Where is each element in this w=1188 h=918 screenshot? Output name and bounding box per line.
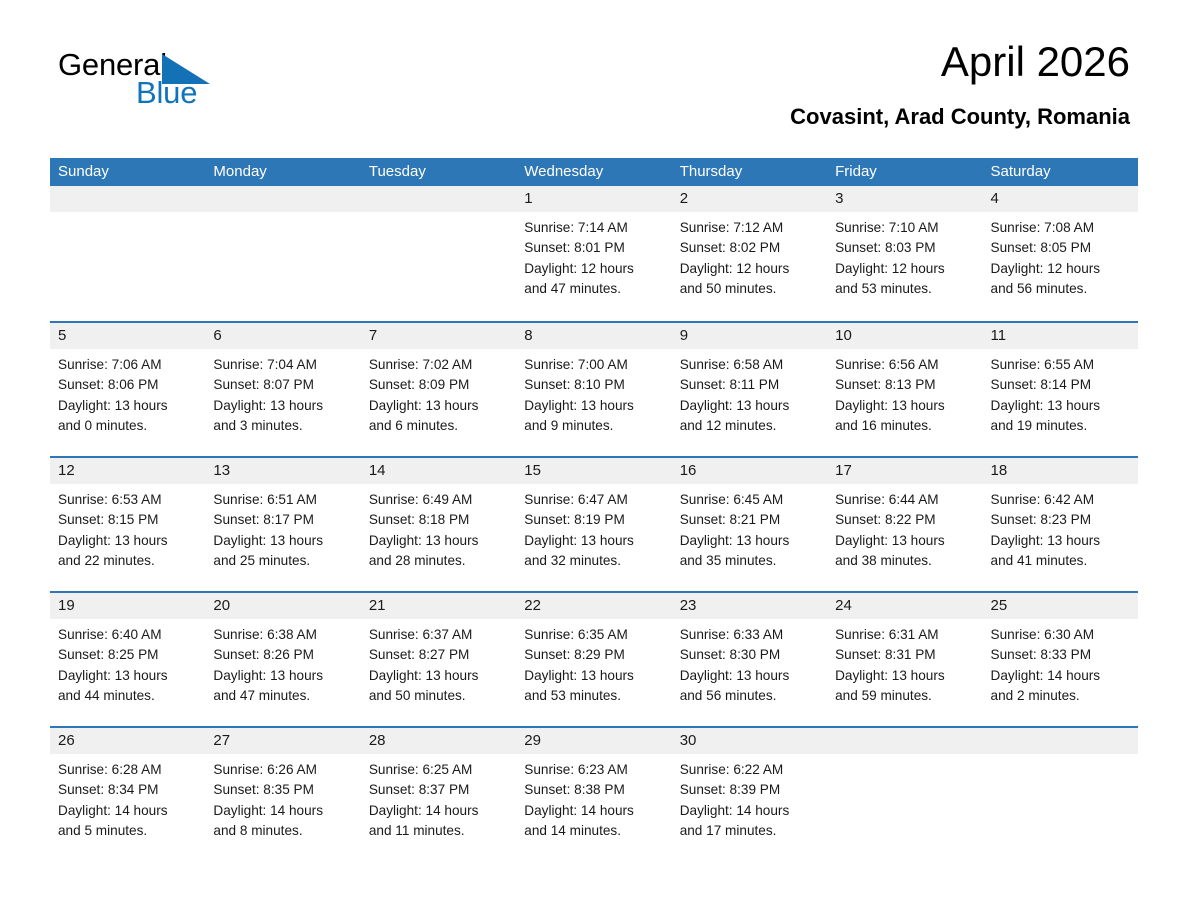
calendar-day-cell-empty [983, 728, 1138, 861]
day-detail-daylight2: and 35 minutes. [680, 551, 819, 571]
day-number: 22 [516, 593, 671, 619]
day-detail-sunrise: Sunrise: 7:12 AM [680, 218, 819, 238]
day-detail-daylight1: Daylight: 13 hours [991, 531, 1130, 551]
day-number: 30 [672, 728, 827, 754]
day-detail-sunrise: Sunrise: 7:08 AM [991, 218, 1130, 238]
day-detail-daylight2: and 22 minutes. [58, 551, 197, 571]
day-details: Sunrise: 6:58 AMSunset: 8:11 PMDaylight:… [672, 349, 827, 436]
day-detail-sunset: Sunset: 8:33 PM [991, 645, 1130, 665]
day-detail-sunset: Sunset: 8:10 PM [524, 375, 663, 395]
calendar-day-cell[interactable]: 13Sunrise: 6:51 AMSunset: 8:17 PMDayligh… [205, 458, 360, 591]
day-number: 7 [361, 323, 516, 349]
day-detail-daylight1: Daylight: 13 hours [991, 396, 1130, 416]
day-number [827, 728, 982, 754]
day-number: 25 [983, 593, 1138, 619]
day-detail-sunrise: Sunrise: 6:49 AM [369, 490, 508, 510]
day-detail-daylight1: Daylight: 14 hours [680, 801, 819, 821]
day-detail-daylight2: and 5 minutes. [58, 821, 197, 841]
day-detail-sunrise: Sunrise: 6:31 AM [835, 625, 974, 645]
day-detail-daylight1: Daylight: 13 hours [58, 666, 197, 686]
day-detail-sunset: Sunset: 8:17 PM [213, 510, 352, 530]
day-detail-daylight2: and 19 minutes. [991, 416, 1130, 436]
page-subtitle: Covasint, Arad County, Romania [790, 104, 1130, 130]
day-detail-daylight1: Daylight: 13 hours [680, 531, 819, 551]
day-detail-sunset: Sunset: 8:15 PM [58, 510, 197, 530]
day-detail-sunset: Sunset: 8:27 PM [369, 645, 508, 665]
calendar-day-cell[interactable]: 9Sunrise: 6:58 AMSunset: 8:11 PMDaylight… [672, 323, 827, 456]
weekday-header-sunday: Sunday [50, 158, 205, 186]
brand-name-blue: Blue [136, 76, 197, 110]
day-number: 16 [672, 458, 827, 484]
day-detail-sunset: Sunset: 8:03 PM [835, 238, 974, 258]
day-detail-daylight1: Daylight: 14 hours [58, 801, 197, 821]
day-details: Sunrise: 6:47 AMSunset: 8:19 PMDaylight:… [516, 484, 671, 571]
day-detail-daylight2: and 56 minutes. [991, 279, 1130, 299]
day-detail-daylight2: and 32 minutes. [524, 551, 663, 571]
day-detail-sunrise: Sunrise: 7:14 AM [524, 218, 663, 238]
day-detail-daylight1: Daylight: 13 hours [524, 396, 663, 416]
day-number: 11 [983, 323, 1138, 349]
day-detail-sunrise: Sunrise: 6:56 AM [835, 355, 974, 375]
calendar-day-cell[interactable]: 27Sunrise: 6:26 AMSunset: 8:35 PMDayligh… [205, 728, 360, 861]
day-details: Sunrise: 6:35 AMSunset: 8:29 PMDaylight:… [516, 619, 671, 706]
day-details: Sunrise: 6:45 AMSunset: 8:21 PMDaylight:… [672, 484, 827, 571]
day-number: 5 [50, 323, 205, 349]
day-detail-daylight2: and 53 minutes. [524, 686, 663, 706]
day-detail-sunset: Sunset: 8:25 PM [58, 645, 197, 665]
weekday-header-saturday: Saturday [983, 158, 1138, 186]
day-detail-sunrise: Sunrise: 6:53 AM [58, 490, 197, 510]
day-detail-sunset: Sunset: 8:06 PM [58, 375, 197, 395]
calendar-day-cell-empty [50, 186, 205, 321]
day-detail-sunrise: Sunrise: 6:30 AM [991, 625, 1130, 645]
day-number: 1 [516, 186, 671, 212]
day-detail-daylight2: and 8 minutes. [213, 821, 352, 841]
day-detail-sunset: Sunset: 8:13 PM [835, 375, 974, 395]
day-number: 2 [672, 186, 827, 212]
day-detail-daylight1: Daylight: 13 hours [369, 396, 508, 416]
day-detail-sunrise: Sunrise: 7:02 AM [369, 355, 508, 375]
day-details: Sunrise: 7:12 AMSunset: 8:02 PMDaylight:… [672, 212, 827, 299]
day-detail-daylight2: and 44 minutes. [58, 686, 197, 706]
day-detail-sunset: Sunset: 8:35 PM [213, 780, 352, 800]
day-detail-sunrise: Sunrise: 6:55 AM [991, 355, 1130, 375]
day-detail-sunset: Sunset: 8:21 PM [680, 510, 819, 530]
day-detail-sunset: Sunset: 8:37 PM [369, 780, 508, 800]
calendar-day-cell[interactable]: 12Sunrise: 6:53 AMSunset: 8:15 PMDayligh… [50, 458, 205, 591]
page-title: April 2026 [790, 38, 1130, 86]
day-detail-sunrise: Sunrise: 6:42 AM [991, 490, 1130, 510]
day-detail-sunset: Sunset: 8:22 PM [835, 510, 974, 530]
day-detail-daylight1: Daylight: 13 hours [835, 396, 974, 416]
day-details: Sunrise: 7:00 AMSunset: 8:10 PMDaylight:… [516, 349, 671, 436]
calendar-day-cell[interactable]: 22Sunrise: 6:35 AMSunset: 8:29 PMDayligh… [516, 593, 671, 726]
day-number [983, 728, 1138, 754]
day-detail-sunset: Sunset: 8:01 PM [524, 238, 663, 258]
day-detail-daylight2: and 14 minutes. [524, 821, 663, 841]
day-detail-sunset: Sunset: 8:38 PM [524, 780, 663, 800]
calendar-weeks: 1Sunrise: 7:14 AMSunset: 8:01 PMDaylight… [50, 186, 1138, 861]
day-details: Sunrise: 6:42 AMSunset: 8:23 PMDaylight:… [983, 484, 1138, 571]
day-detail-daylight2: and 56 minutes. [680, 686, 819, 706]
day-detail-daylight1: Daylight: 13 hours [213, 396, 352, 416]
day-detail-daylight1: Daylight: 13 hours [369, 666, 508, 686]
day-detail-sunrise: Sunrise: 7:00 AM [524, 355, 663, 375]
day-detail-daylight2: and 2 minutes. [991, 686, 1130, 706]
calendar-day-cell[interactable]: 7Sunrise: 7:02 AMSunset: 8:09 PMDaylight… [361, 323, 516, 456]
calendar-day-cell[interactable]: 5Sunrise: 7:06 AMSunset: 8:06 PMDaylight… [50, 323, 205, 456]
weekday-header-friday: Friday [827, 158, 982, 186]
day-details: Sunrise: 7:04 AMSunset: 8:07 PMDaylight:… [205, 349, 360, 436]
day-detail-daylight2: and 12 minutes. [680, 416, 819, 436]
day-detail-sunrise: Sunrise: 6:44 AM [835, 490, 974, 510]
day-detail-sunrise: Sunrise: 6:51 AM [213, 490, 352, 510]
page-header: General Blue April 2026 Covasint, Arad C… [50, 0, 1138, 120]
day-number: 18 [983, 458, 1138, 484]
day-detail-sunset: Sunset: 8:11 PM [680, 375, 819, 395]
day-details: Sunrise: 6:51 AMSunset: 8:17 PMDaylight:… [205, 484, 360, 571]
calendar-page: General Blue April 2026 Covasint, Arad C… [0, 0, 1188, 918]
day-detail-sunrise: Sunrise: 6:47 AM [524, 490, 663, 510]
day-details: Sunrise: 6:31 AMSunset: 8:31 PMDaylight:… [827, 619, 982, 706]
day-detail-sunrise: Sunrise: 6:58 AM [680, 355, 819, 375]
day-number: 13 [205, 458, 360, 484]
calendar-day-cell[interactable]: 29Sunrise: 6:23 AMSunset: 8:38 PMDayligh… [516, 728, 671, 861]
day-details: Sunrise: 7:06 AMSunset: 8:06 PMDaylight:… [50, 349, 205, 436]
day-details: Sunrise: 7:08 AMSunset: 8:05 PMDaylight:… [983, 212, 1138, 299]
weekday-header-tuesday: Tuesday [361, 158, 516, 186]
day-detail-sunrise: Sunrise: 7:04 AM [213, 355, 352, 375]
day-number: 9 [672, 323, 827, 349]
day-number: 27 [205, 728, 360, 754]
calendar-day-cell[interactable]: 28Sunrise: 6:25 AMSunset: 8:37 PMDayligh… [361, 728, 516, 861]
day-detail-sunset: Sunset: 8:09 PM [369, 375, 508, 395]
calendar-day-cell[interactable]: 16Sunrise: 6:45 AMSunset: 8:21 PMDayligh… [672, 458, 827, 591]
day-number [50, 186, 205, 212]
calendar-day-cell[interactable]: 24Sunrise: 6:31 AMSunset: 8:31 PMDayligh… [827, 593, 982, 726]
calendar-week-row: 5Sunrise: 7:06 AMSunset: 8:06 PMDaylight… [50, 321, 1138, 456]
day-number: 3 [827, 186, 982, 212]
day-detail-daylight1: Daylight: 13 hours [524, 531, 663, 551]
calendar-day-cell[interactable]: 4Sunrise: 7:08 AMSunset: 8:05 PMDaylight… [983, 186, 1138, 321]
day-number: 26 [50, 728, 205, 754]
day-detail-sunrise: Sunrise: 6:35 AM [524, 625, 663, 645]
day-detail-daylight1: Daylight: 13 hours [213, 531, 352, 551]
day-detail-sunset: Sunset: 8:30 PM [680, 645, 819, 665]
day-detail-sunset: Sunset: 8:39 PM [680, 780, 819, 800]
day-detail-sunset: Sunset: 8:34 PM [58, 780, 197, 800]
day-number [361, 186, 516, 212]
day-detail-daylight2: and 3 minutes. [213, 416, 352, 436]
day-detail-sunset: Sunset: 8:26 PM [213, 645, 352, 665]
day-detail-sunrise: Sunrise: 6:33 AM [680, 625, 819, 645]
day-detail-daylight1: Daylight: 14 hours [213, 801, 352, 821]
day-detail-sunrise: Sunrise: 6:40 AM [58, 625, 197, 645]
calendar-day-cell[interactable]: 3Sunrise: 7:10 AMSunset: 8:03 PMDaylight… [827, 186, 982, 321]
day-detail-daylight1: Daylight: 13 hours [58, 396, 197, 416]
weekday-header-row: Sunday Monday Tuesday Wednesday Thursday… [50, 158, 1138, 186]
day-details: Sunrise: 6:33 AMSunset: 8:30 PMDaylight:… [672, 619, 827, 706]
calendar-grid: Sunday Monday Tuesday Wednesday Thursday… [50, 158, 1138, 861]
calendar-day-cell[interactable]: 15Sunrise: 6:47 AMSunset: 8:19 PMDayligh… [516, 458, 671, 591]
day-details: Sunrise: 6:30 AMSunset: 8:33 PMDaylight:… [983, 619, 1138, 706]
day-number: 29 [516, 728, 671, 754]
day-detail-sunset: Sunset: 8:07 PM [213, 375, 352, 395]
day-detail-daylight2: and 50 minutes. [680, 279, 819, 299]
weekday-header-thursday: Thursday [672, 158, 827, 186]
calendar-week-row: 1Sunrise: 7:14 AMSunset: 8:01 PMDaylight… [50, 186, 1138, 321]
day-detail-daylight1: Daylight: 12 hours [835, 259, 974, 279]
day-number: 6 [205, 323, 360, 349]
calendar-day-cell[interactable]: 6Sunrise: 7:04 AMSunset: 8:07 PMDaylight… [205, 323, 360, 456]
calendar-day-cell-empty [827, 728, 982, 861]
day-detail-daylight1: Daylight: 12 hours [680, 259, 819, 279]
day-detail-daylight2: and 28 minutes. [369, 551, 508, 571]
brand-logo[interactable]: General Blue [58, 48, 258, 114]
day-details: Sunrise: 6:53 AMSunset: 8:15 PMDaylight:… [50, 484, 205, 571]
day-details: Sunrise: 6:38 AMSunset: 8:26 PMDaylight:… [205, 619, 360, 706]
calendar-day-cell[interactable]: 14Sunrise: 6:49 AMSunset: 8:18 PMDayligh… [361, 458, 516, 591]
day-detail-sunset: Sunset: 8:05 PM [991, 238, 1130, 258]
day-details: Sunrise: 7:10 AMSunset: 8:03 PMDaylight:… [827, 212, 982, 299]
calendar-day-cell[interactable]: 8Sunrise: 7:00 AMSunset: 8:10 PMDaylight… [516, 323, 671, 456]
day-number: 24 [827, 593, 982, 619]
day-detail-daylight1: Daylight: 13 hours [680, 666, 819, 686]
day-number: 4 [983, 186, 1138, 212]
day-number: 21 [361, 593, 516, 619]
day-detail-daylight1: Daylight: 12 hours [524, 259, 663, 279]
day-number: 20 [205, 593, 360, 619]
day-number [205, 186, 360, 212]
day-detail-daylight1: Daylight: 13 hours [369, 531, 508, 551]
day-number: 17 [827, 458, 982, 484]
calendar-day-cell[interactable]: 20Sunrise: 6:38 AMSunset: 8:26 PMDayligh… [205, 593, 360, 726]
day-detail-daylight1: Daylight: 12 hours [991, 259, 1130, 279]
calendar-day-cell[interactable]: 30Sunrise: 6:22 AMSunset: 8:39 PMDayligh… [672, 728, 827, 861]
calendar-day-cell-empty [361, 186, 516, 321]
day-detail-daylight1: Daylight: 13 hours [835, 531, 974, 551]
day-number: 8 [516, 323, 671, 349]
day-number: 14 [361, 458, 516, 484]
day-detail-sunrise: Sunrise: 6:28 AM [58, 760, 197, 780]
day-details: Sunrise: 6:56 AMSunset: 8:13 PMDaylight:… [827, 349, 982, 436]
calendar-week-row: 12Sunrise: 6:53 AMSunset: 8:15 PMDayligh… [50, 456, 1138, 591]
day-detail-daylight1: Daylight: 13 hours [58, 531, 197, 551]
day-detail-daylight2: and 25 minutes. [213, 551, 352, 571]
calendar-day-cell[interactable]: 17Sunrise: 6:44 AMSunset: 8:22 PMDayligh… [827, 458, 982, 591]
day-detail-sunrise: Sunrise: 6:25 AM [369, 760, 508, 780]
calendar-week-row: 19Sunrise: 6:40 AMSunset: 8:25 PMDayligh… [50, 591, 1138, 726]
day-detail-daylight2: and 11 minutes. [369, 821, 508, 841]
day-detail-daylight1: Daylight: 14 hours [524, 801, 663, 821]
day-detail-sunset: Sunset: 8:31 PM [835, 645, 974, 665]
day-detail-daylight2: and 53 minutes. [835, 279, 974, 299]
calendar-day-cell[interactable]: 23Sunrise: 6:33 AMSunset: 8:30 PMDayligh… [672, 593, 827, 726]
day-detail-daylight1: Daylight: 14 hours [369, 801, 508, 821]
calendar-day-cell-empty [205, 186, 360, 321]
day-details: Sunrise: 7:02 AMSunset: 8:09 PMDaylight:… [361, 349, 516, 436]
day-detail-daylight2: and 0 minutes. [58, 416, 197, 436]
day-detail-sunrise: Sunrise: 6:22 AM [680, 760, 819, 780]
day-detail-sunset: Sunset: 8:18 PM [369, 510, 508, 530]
day-detail-daylight1: Daylight: 13 hours [524, 666, 663, 686]
day-detail-daylight2: and 41 minutes. [991, 551, 1130, 571]
day-detail-daylight1: Daylight: 13 hours [835, 666, 974, 686]
calendar-day-cell[interactable]: 25Sunrise: 6:30 AMSunset: 8:33 PMDayligh… [983, 593, 1138, 726]
calendar-day-cell[interactable]: 11Sunrise: 6:55 AMSunset: 8:14 PMDayligh… [983, 323, 1138, 456]
day-details: Sunrise: 6:55 AMSunset: 8:14 PMDaylight:… [983, 349, 1138, 436]
day-details: Sunrise: 6:37 AMSunset: 8:27 PMDaylight:… [361, 619, 516, 706]
day-detail-sunrise: Sunrise: 6:38 AM [213, 625, 352, 645]
day-details: Sunrise: 6:40 AMSunset: 8:25 PMDaylight:… [50, 619, 205, 706]
day-detail-daylight2: and 59 minutes. [835, 686, 974, 706]
day-detail-daylight2: and 6 minutes. [369, 416, 508, 436]
day-details: Sunrise: 6:26 AMSunset: 8:35 PMDaylight:… [205, 754, 360, 841]
day-detail-daylight2: and 38 minutes. [835, 551, 974, 571]
day-detail-sunrise: Sunrise: 6:37 AM [369, 625, 508, 645]
weekday-header-monday: Monday [205, 158, 360, 186]
calendar-day-cell[interactable]: 1Sunrise: 7:14 AMSunset: 8:01 PMDaylight… [516, 186, 671, 321]
day-detail-sunrise: Sunrise: 7:06 AM [58, 355, 197, 375]
day-number: 28 [361, 728, 516, 754]
calendar-week-row: 26Sunrise: 6:28 AMSunset: 8:34 PMDayligh… [50, 726, 1138, 861]
day-detail-daylight2: and 9 minutes. [524, 416, 663, 436]
day-details: Sunrise: 6:49 AMSunset: 8:18 PMDaylight:… [361, 484, 516, 571]
day-detail-sunrise: Sunrise: 6:26 AM [213, 760, 352, 780]
day-detail-daylight1: Daylight: 13 hours [213, 666, 352, 686]
day-detail-sunrise: Sunrise: 6:23 AM [524, 760, 663, 780]
day-detail-sunset: Sunset: 8:02 PM [680, 238, 819, 258]
day-details: Sunrise: 7:14 AMSunset: 8:01 PMDaylight:… [516, 212, 671, 299]
day-detail-sunset: Sunset: 8:19 PM [524, 510, 663, 530]
day-number: 15 [516, 458, 671, 484]
day-detail-sunrise: Sunrise: 6:45 AM [680, 490, 819, 510]
calendar-day-cell[interactable]: 2Sunrise: 7:12 AMSunset: 8:02 PMDaylight… [672, 186, 827, 321]
day-details: Sunrise: 6:44 AMSunset: 8:22 PMDaylight:… [827, 484, 982, 571]
day-number: 23 [672, 593, 827, 619]
day-detail-daylight2: and 17 minutes. [680, 821, 819, 841]
day-detail-daylight2: and 16 minutes. [835, 416, 974, 436]
calendar-day-cell[interactable]: 10Sunrise: 6:56 AMSunset: 8:13 PMDayligh… [827, 323, 982, 456]
calendar-day-cell[interactable]: 18Sunrise: 6:42 AMSunset: 8:23 PMDayligh… [983, 458, 1138, 591]
title-block: April 2026 Covasint, Arad County, Romani… [790, 38, 1130, 130]
day-detail-daylight1: Daylight: 13 hours [680, 396, 819, 416]
day-number: 12 [50, 458, 205, 484]
day-detail-daylight2: and 47 minutes. [213, 686, 352, 706]
day-details: Sunrise: 6:28 AMSunset: 8:34 PMDaylight:… [50, 754, 205, 841]
day-detail-sunset: Sunset: 8:29 PM [524, 645, 663, 665]
day-detail-sunset: Sunset: 8:23 PM [991, 510, 1130, 530]
day-number: 10 [827, 323, 982, 349]
weekday-header-wednesday: Wednesday [516, 158, 671, 186]
day-detail-sunset: Sunset: 8:14 PM [991, 375, 1130, 395]
day-details: Sunrise: 6:23 AMSunset: 8:38 PMDaylight:… [516, 754, 671, 841]
day-detail-daylight1: Daylight: 14 hours [991, 666, 1130, 686]
day-details: Sunrise: 6:25 AMSunset: 8:37 PMDaylight:… [361, 754, 516, 841]
day-detail-daylight2: and 50 minutes. [369, 686, 508, 706]
calendar-day-cell[interactable]: 19Sunrise: 6:40 AMSunset: 8:25 PMDayligh… [50, 593, 205, 726]
day-detail-daylight2: and 47 minutes. [524, 279, 663, 299]
calendar-day-cell[interactable]: 21Sunrise: 6:37 AMSunset: 8:27 PMDayligh… [361, 593, 516, 726]
day-number: 19 [50, 593, 205, 619]
calendar-day-cell[interactable]: 26Sunrise: 6:28 AMSunset: 8:34 PMDayligh… [50, 728, 205, 861]
day-details: Sunrise: 6:22 AMSunset: 8:39 PMDaylight:… [672, 754, 827, 841]
day-detail-sunrise: Sunrise: 7:10 AM [835, 218, 974, 238]
